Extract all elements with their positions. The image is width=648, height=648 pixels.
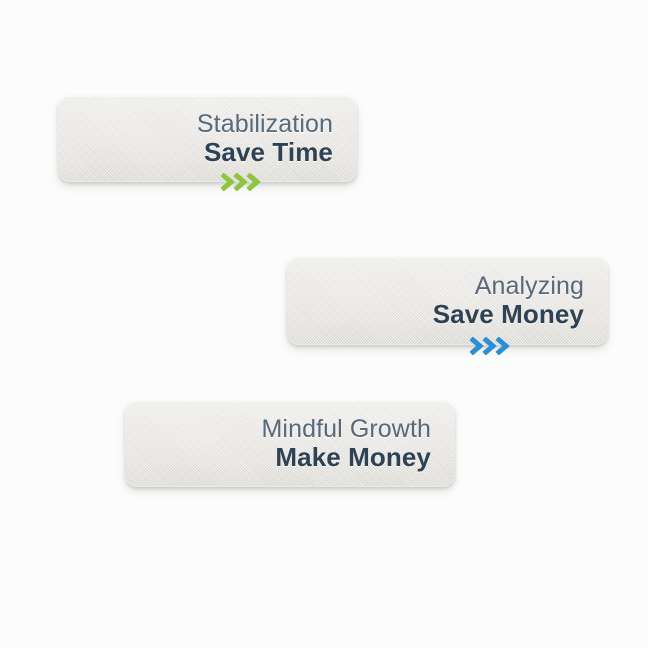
step-card-light-label: Stabilization <box>197 111 333 138</box>
step-card-bold-label: Save Money <box>433 301 584 329</box>
step-card-bold-label: Save Time <box>197 139 333 167</box>
step-card-stabilization[interactable]: Stabilization Save Time <box>58 96 357 182</box>
step-card-bold-label: Make Money <box>261 444 431 472</box>
step-card-mindful-growth[interactable]: Mindful Growth Make Money <box>125 401 455 487</box>
step-card-text: Stabilization Save Time <box>197 111 333 167</box>
step-card-text: Analyzing Save Money <box>433 273 584 329</box>
chevrons-right-icon-blue <box>470 337 518 355</box>
chevrons-right-icon-green <box>221 173 269 191</box>
step-card-text: Mindful Growth Make Money <box>261 416 431 472</box>
step-card-analyzing[interactable]: Analyzing Save Money <box>287 257 608 345</box>
step-card-light-label: Mindful Growth <box>261 416 431 443</box>
steps-graphic-canvas: Stabilization Save Time Analyzing Save M… <box>0 0 648 648</box>
step-card-light-label: Analyzing <box>433 273 584 300</box>
